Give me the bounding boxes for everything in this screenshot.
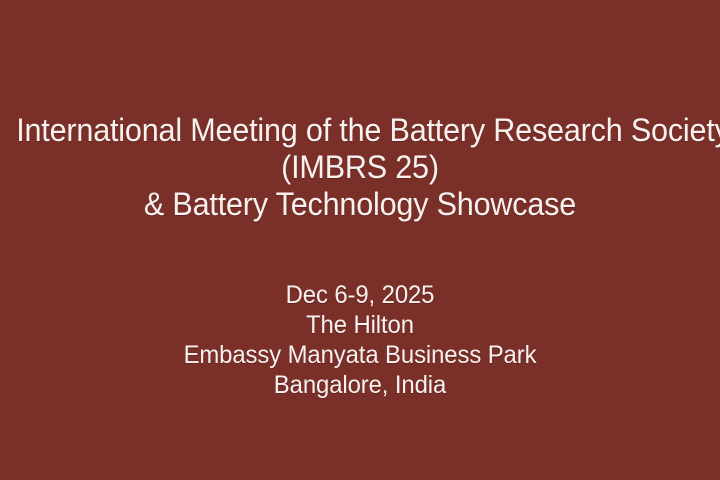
venue-city: Bangalore, India: [16, 370, 704, 400]
title-slide: International Meeting of the Battery Res…: [0, 0, 720, 480]
title-block: International Meeting of the Battery Res…: [0, 112, 720, 223]
title-line-1: International Meeting of the Battery Res…: [16, 112, 704, 149]
event-dates: Dec 6-9, 2025: [16, 280, 704, 310]
venue-name: The Hilton: [16, 310, 704, 340]
event-details-block: Dec 6-9, 2025 The Hilton Embassy Manyata…: [0, 280, 720, 400]
venue-address: Embassy Manyata Business Park: [16, 340, 704, 370]
title-line-2-acronym: (IMBRS 25): [16, 149, 704, 186]
title-line-3-subtitle: & Battery Technology Showcase: [16, 186, 704, 223]
